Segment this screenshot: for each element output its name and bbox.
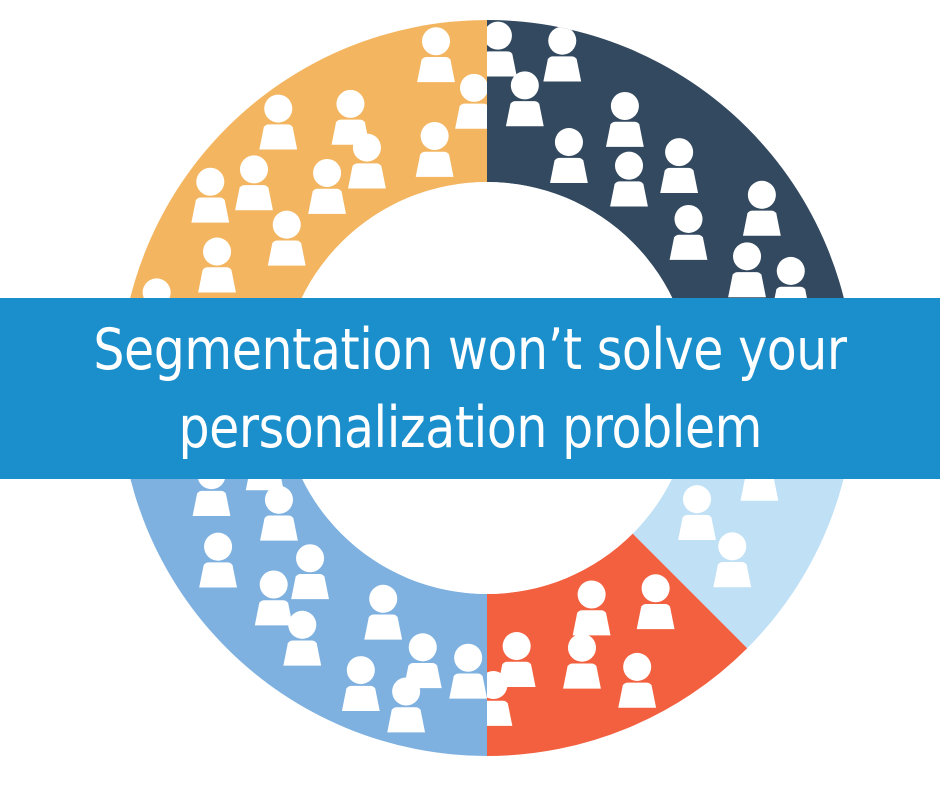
person-icon-head (196, 168, 224, 196)
person-icon-head (296, 544, 324, 572)
person-icon-head (683, 485, 711, 513)
title-banner: Segmentation won’t solve your personaliz… (0, 298, 940, 479)
person-icon-head (674, 205, 702, 233)
title-line-2: personalization problem (178, 389, 761, 467)
slide-canvas: Segmentation won’t solve your personaliz… (0, 0, 940, 788)
person-icon-body (348, 163, 386, 188)
person-icon-body (743, 211, 781, 236)
person-icon-body (678, 515, 716, 540)
person-icon-body (563, 663, 601, 688)
person-icon-body (260, 516, 298, 541)
person-icon-head (555, 128, 583, 156)
person-icon-head (369, 585, 397, 613)
person-icon-head (733, 242, 761, 270)
person-icon-head (409, 633, 437, 661)
person-icon-body (506, 101, 544, 126)
person-icon-head (336, 90, 364, 118)
person-icon-body (660, 168, 698, 193)
person-icon-head (623, 653, 651, 681)
person-icon-head (615, 152, 643, 180)
person-icon-head (240, 155, 268, 183)
person-icon-body (449, 673, 487, 698)
person-icon-head (460, 74, 488, 102)
person-icon-body (191, 197, 229, 222)
person-icon-body (235, 185, 273, 210)
person-icon-body (550, 158, 588, 183)
person-icon-head (484, 22, 512, 50)
person-icon-head (777, 257, 805, 285)
person-icon-body (198, 267, 236, 292)
person-icon-head (421, 122, 449, 150)
person-icon-head (548, 27, 576, 55)
person-icon-body (268, 240, 306, 265)
person-icon-head (665, 138, 693, 166)
person-icon-body (387, 707, 425, 732)
person-icon-head (503, 632, 531, 660)
person-icon-body (417, 57, 455, 82)
person-icon-body (193, 491, 231, 516)
person-icon-body (308, 189, 346, 214)
person-icon-body (606, 122, 644, 147)
person-icon-head (260, 570, 288, 598)
person-icon-head (313, 159, 341, 187)
person-icon-head (203, 238, 231, 266)
person-icon-head (611, 92, 639, 120)
person-icon-head (264, 95, 292, 123)
person-icon-head (578, 580, 606, 608)
person-icon-head (204, 533, 232, 561)
person-icon-body (283, 641, 321, 666)
person-icon-body (543, 56, 581, 81)
person-icon-body (637, 604, 675, 629)
person-icon-body (610, 181, 648, 206)
person-icon-body (728, 272, 766, 297)
person-icon-body (416, 152, 454, 177)
person-icon-head (718, 532, 746, 560)
person-icon-head (748, 181, 776, 209)
person-icon-body (342, 686, 380, 711)
person-icon-head (347, 656, 375, 684)
person-icon-body (618, 683, 656, 708)
person-icon-head (353, 134, 381, 162)
person-icon-head (273, 211, 301, 239)
person-icon-body (255, 600, 293, 625)
person-icon-head (642, 574, 670, 602)
person-icon-body (713, 562, 751, 587)
person-icon-body (199, 562, 237, 587)
person-icon-body (259, 124, 297, 149)
person-icon-body (364, 615, 402, 640)
person-icon-body (670, 235, 708, 260)
person-icon-head (288, 611, 316, 639)
title-line-1: Segmentation won’t solve your (93, 311, 846, 389)
person-icon-head (422, 27, 450, 55)
person-icon-body (291, 574, 329, 599)
person-icon-head (568, 634, 596, 662)
person-icon-body (573, 610, 611, 635)
person-icon-head (454, 644, 482, 672)
person-icon-head (392, 677, 420, 705)
person-icon-body (740, 476, 778, 501)
